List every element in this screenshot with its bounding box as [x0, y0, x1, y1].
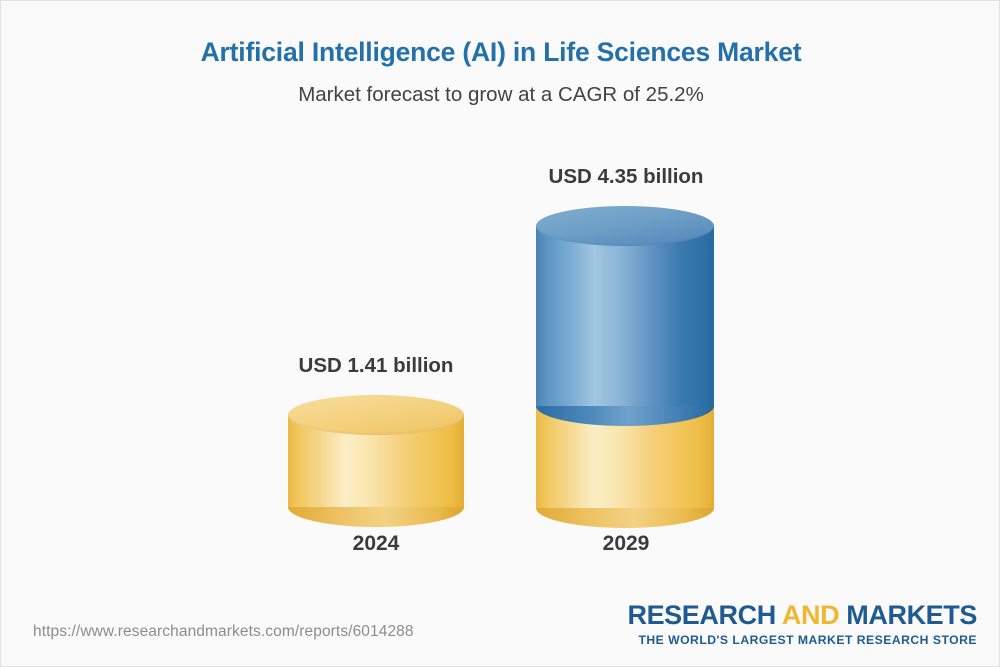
value-label-2024: USD 1.41 billion	[256, 354, 496, 378]
logo-text-and: AND	[782, 600, 839, 630]
report-url[interactable]: https://www.researchandmarkets.com/repor…	[33, 623, 414, 641]
category-label-2029: 2029	[506, 532, 746, 556]
bar-2029-top-cap	[536, 206, 714, 246]
value-label-2029: USD 4.35 billion	[506, 165, 746, 189]
logo-tagline: THE WORLD'S LARGEST MARKET RESEARCH STOR…	[627, 634, 977, 646]
bar-2024-segment	[288, 415, 464, 507]
bar-2029-top-body-front	[536, 226, 714, 406]
infographic-canvas: Artificial Intelligence (AI) in Life Sci…	[0, 0, 1000, 667]
bar-2024-top-cap	[288, 395, 464, 435]
research-and-markets-logo[interactable]: RESEARCH AND MARKETS THE WORLD'S LARGEST…	[627, 602, 977, 646]
category-label-2024: 2024	[256, 532, 496, 556]
bar-2024[interactable]	[288, 395, 464, 513]
bar-2029[interactable]	[536, 206, 714, 513]
logo-text-research: RESEARCH	[627, 600, 781, 630]
logo-text-markets: MARKETS	[839, 600, 977, 630]
chart-plot-area: USD 1.41 billion USD 4.35 billion	[1, 1, 1000, 667]
logo-wordmark: RESEARCH AND MARKETS	[627, 602, 977, 629]
bar-2029-top-segment	[536, 226, 714, 406]
